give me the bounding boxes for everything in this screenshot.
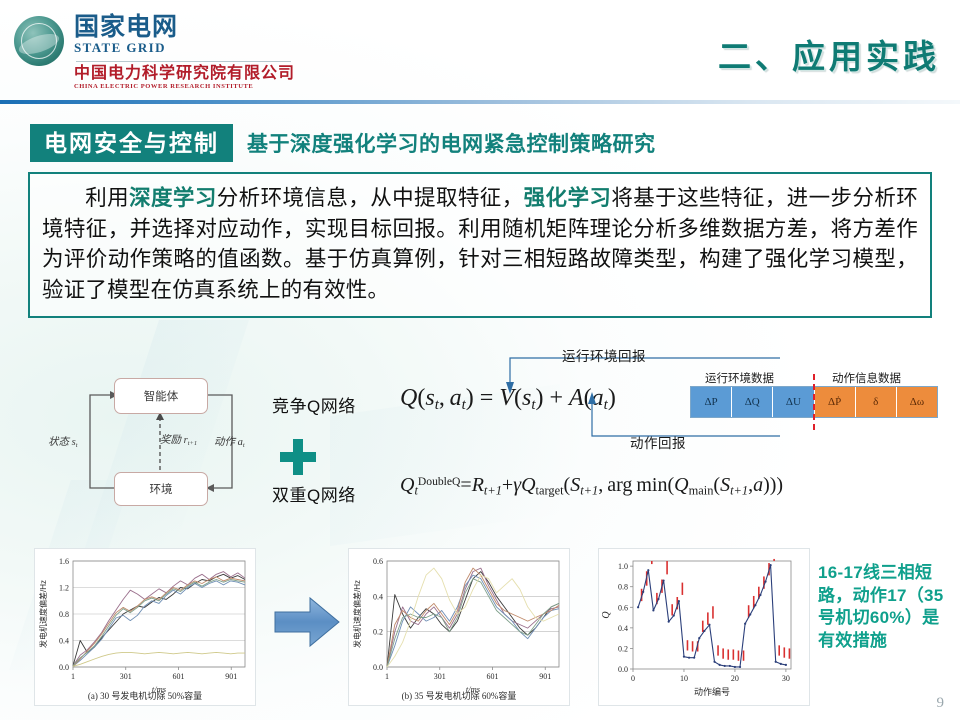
svg-text:0.0: 0.0 (618, 665, 628, 674)
summary-highlight-deep-learning: 深度学习 (129, 186, 217, 210)
svg-text:1.6: 1.6 (59, 557, 69, 566)
svg-text:601: 601 (486, 672, 498, 681)
svg-text:0.6: 0.6 (373, 557, 383, 566)
slide-header: 国家电网 STATE GRID 中国电力科学研究院有限公司 CHINA ELEC… (0, 0, 960, 108)
summary-text: 利用深度学习分析环境信息，从中提取特征，强化学习将基于这些特征，进一步分析环境特… (42, 183, 918, 306)
svg-text:动作编号: 动作编号 (694, 686, 730, 697)
company-name-cn: 国家电网 (74, 14, 295, 40)
svg-text:0: 0 (631, 674, 635, 683)
svg-text:0.8: 0.8 (618, 583, 628, 592)
brand-divider (76, 61, 291, 62)
rl-action-subscript: t (243, 442, 245, 449)
svg-text:1.2: 1.2 (59, 584, 69, 593)
topic-tag: 电网安全与控制 (30, 124, 233, 162)
svg-text:1.0: 1.0 (618, 562, 628, 571)
rl-state-label: 状态 st (48, 434, 78, 449)
company-name-en: STATE GRID (74, 40, 295, 56)
svg-text:1: 1 (385, 672, 389, 681)
institute-name-en: CHINA ELECTRIC POWER RESEARCH INSTITUTE (74, 83, 295, 90)
chart-c-plot: 0.00.20.40.60.81.00102030动作编号Q (599, 549, 811, 707)
svg-text:30: 30 (782, 674, 790, 683)
title-row: 电网安全与控制 基于深度强化学习的电网紧急控制策略研究 (30, 124, 656, 162)
svg-text:0.0: 0.0 (373, 663, 383, 672)
svg-text:Q: Q (601, 611, 612, 619)
svg-text:301: 301 (120, 672, 132, 681)
rl-reward-label: 奖励 rt+1 (160, 432, 197, 447)
page-number: 9 (937, 695, 945, 712)
svg-text:发电机速度偏差/Hz: 发电机速度偏差/Hz (38, 580, 48, 648)
env-reward-label: 运行环境回报 (562, 345, 646, 365)
svg-text:0.2: 0.2 (618, 644, 628, 653)
rl-reward-subscript: t+1 (188, 440, 197, 447)
svg-text:301: 301 (434, 672, 446, 681)
chart-a-generator-30: 0.00.40.81.21.61301601901t/ms发电机速度偏差/Hz … (34, 548, 256, 706)
svg-text:0.2: 0.2 (373, 628, 383, 637)
chart-b-caption: (b) 35 号发电机切除 60%容量 (349, 689, 569, 702)
chart-b-generator-35: 0.00.20.40.61301601901t/ms发电机速度偏差/Hz (b)… (348, 548, 570, 706)
svg-text:0.4: 0.4 (618, 624, 628, 633)
rl-agent-box: 智能体 (114, 378, 208, 414)
svg-text:901: 901 (539, 672, 551, 681)
header-divider (0, 100, 960, 104)
table-cell-env-1: ΔQ (732, 387, 773, 417)
slide-root: 国家电网 STATE GRID 中国电力科学研究院有限公司 CHINA ELEC… (0, 0, 960, 720)
rl-loop-diagram: 智能体 环境 状态 st 奖励 rt+1 动作 at (72, 378, 272, 506)
svg-text:10: 10 (680, 674, 688, 683)
state-grid-logo-icon (14, 16, 64, 66)
annotation-text: 16-17线三相短路，动作17（35号机切60%）是有效措施 (818, 562, 956, 652)
rl-action-label: 动作 at (214, 434, 245, 449)
table-cell-action-0: ΔṖ (815, 387, 856, 417)
dueling-network-label: 竞争Q网络 (272, 392, 356, 417)
svg-text:601: 601 (172, 672, 184, 681)
table-cell-env-0: ΔP (691, 387, 732, 417)
rl-environment-box: 环境 (114, 472, 208, 506)
table-cell-env-2: ΔU (773, 387, 814, 417)
svg-text:0.8: 0.8 (59, 610, 69, 619)
svg-text:20: 20 (731, 674, 739, 683)
table-header-action: 动作信息数据 (832, 370, 901, 386)
svg-text:901: 901 (225, 672, 237, 681)
chart-a-caption: (a) 30 号发电机切除 50%容量 (35, 689, 255, 702)
brand-logo-block: 国家电网 STATE GRID 中国电力科学研究院有限公司 CHINA ELEC… (14, 14, 295, 90)
brand-text: 国家电网 STATE GRID 中国电力科学研究院有限公司 CHINA ELEC… (74, 14, 295, 90)
svg-text:发电机速度偏差/Hz: 发电机速度偏差/Hz (352, 580, 362, 648)
svg-text:0.4: 0.4 (59, 637, 69, 646)
table-divider (813, 374, 815, 430)
summary-highlight-reinforcement-learning: 强化学习 (524, 186, 612, 210)
table-cell-action-1: δ (856, 387, 897, 417)
double-q-formula: QtDoubleQ=Rt+1+γQtarget(St+1, arg min(Qm… (400, 474, 783, 498)
svg-text:1: 1 (71, 672, 75, 681)
institute-name-cn: 中国电力科学研究院有限公司 (74, 65, 295, 83)
svg-text:0.0: 0.0 (59, 663, 69, 672)
topic-subtitle: 基于深度强化学习的电网紧急控制策略研究 (247, 128, 656, 158)
rl-state-subscript: t (76, 442, 78, 449)
chart-a-plot: 0.00.40.81.21.61301601901t/ms发电机速度偏差/Hz (35, 549, 257, 707)
chart-c-q-values: 0.00.20.40.60.81.00102030动作编号Q (598, 548, 810, 706)
table-cell-action-2: Δω (897, 387, 937, 417)
summary-part1: 利用 (85, 186, 129, 210)
svg-text:0.6: 0.6 (618, 603, 628, 612)
summary-box: 利用深度学习分析环境信息，从中提取特征，强化学习将基于这些特征，进一步分析环境特… (28, 172, 932, 318)
svg-text:0.4: 0.4 (373, 592, 383, 601)
rl-action-text: 动作 a (214, 437, 243, 448)
chart-b-plot: 0.00.20.40.61301601901t/ms发电机速度偏差/Hz (349, 549, 571, 707)
section-title: 二、应用实践 (718, 30, 940, 78)
table-header-env: 运行环境数据 (705, 370, 774, 386)
plus-icon (278, 437, 318, 477)
action-reward-label: 动作回报 (630, 432, 686, 452)
rl-state-text: 状态 s (48, 437, 76, 448)
rl-reward-text: 奖励 r (160, 435, 188, 446)
double-network-label: 双重Q网络 (272, 481, 356, 506)
right-arrow-icon (272, 592, 342, 652)
summary-part2: 分析环境信息，从中提取特征， (217, 186, 524, 210)
